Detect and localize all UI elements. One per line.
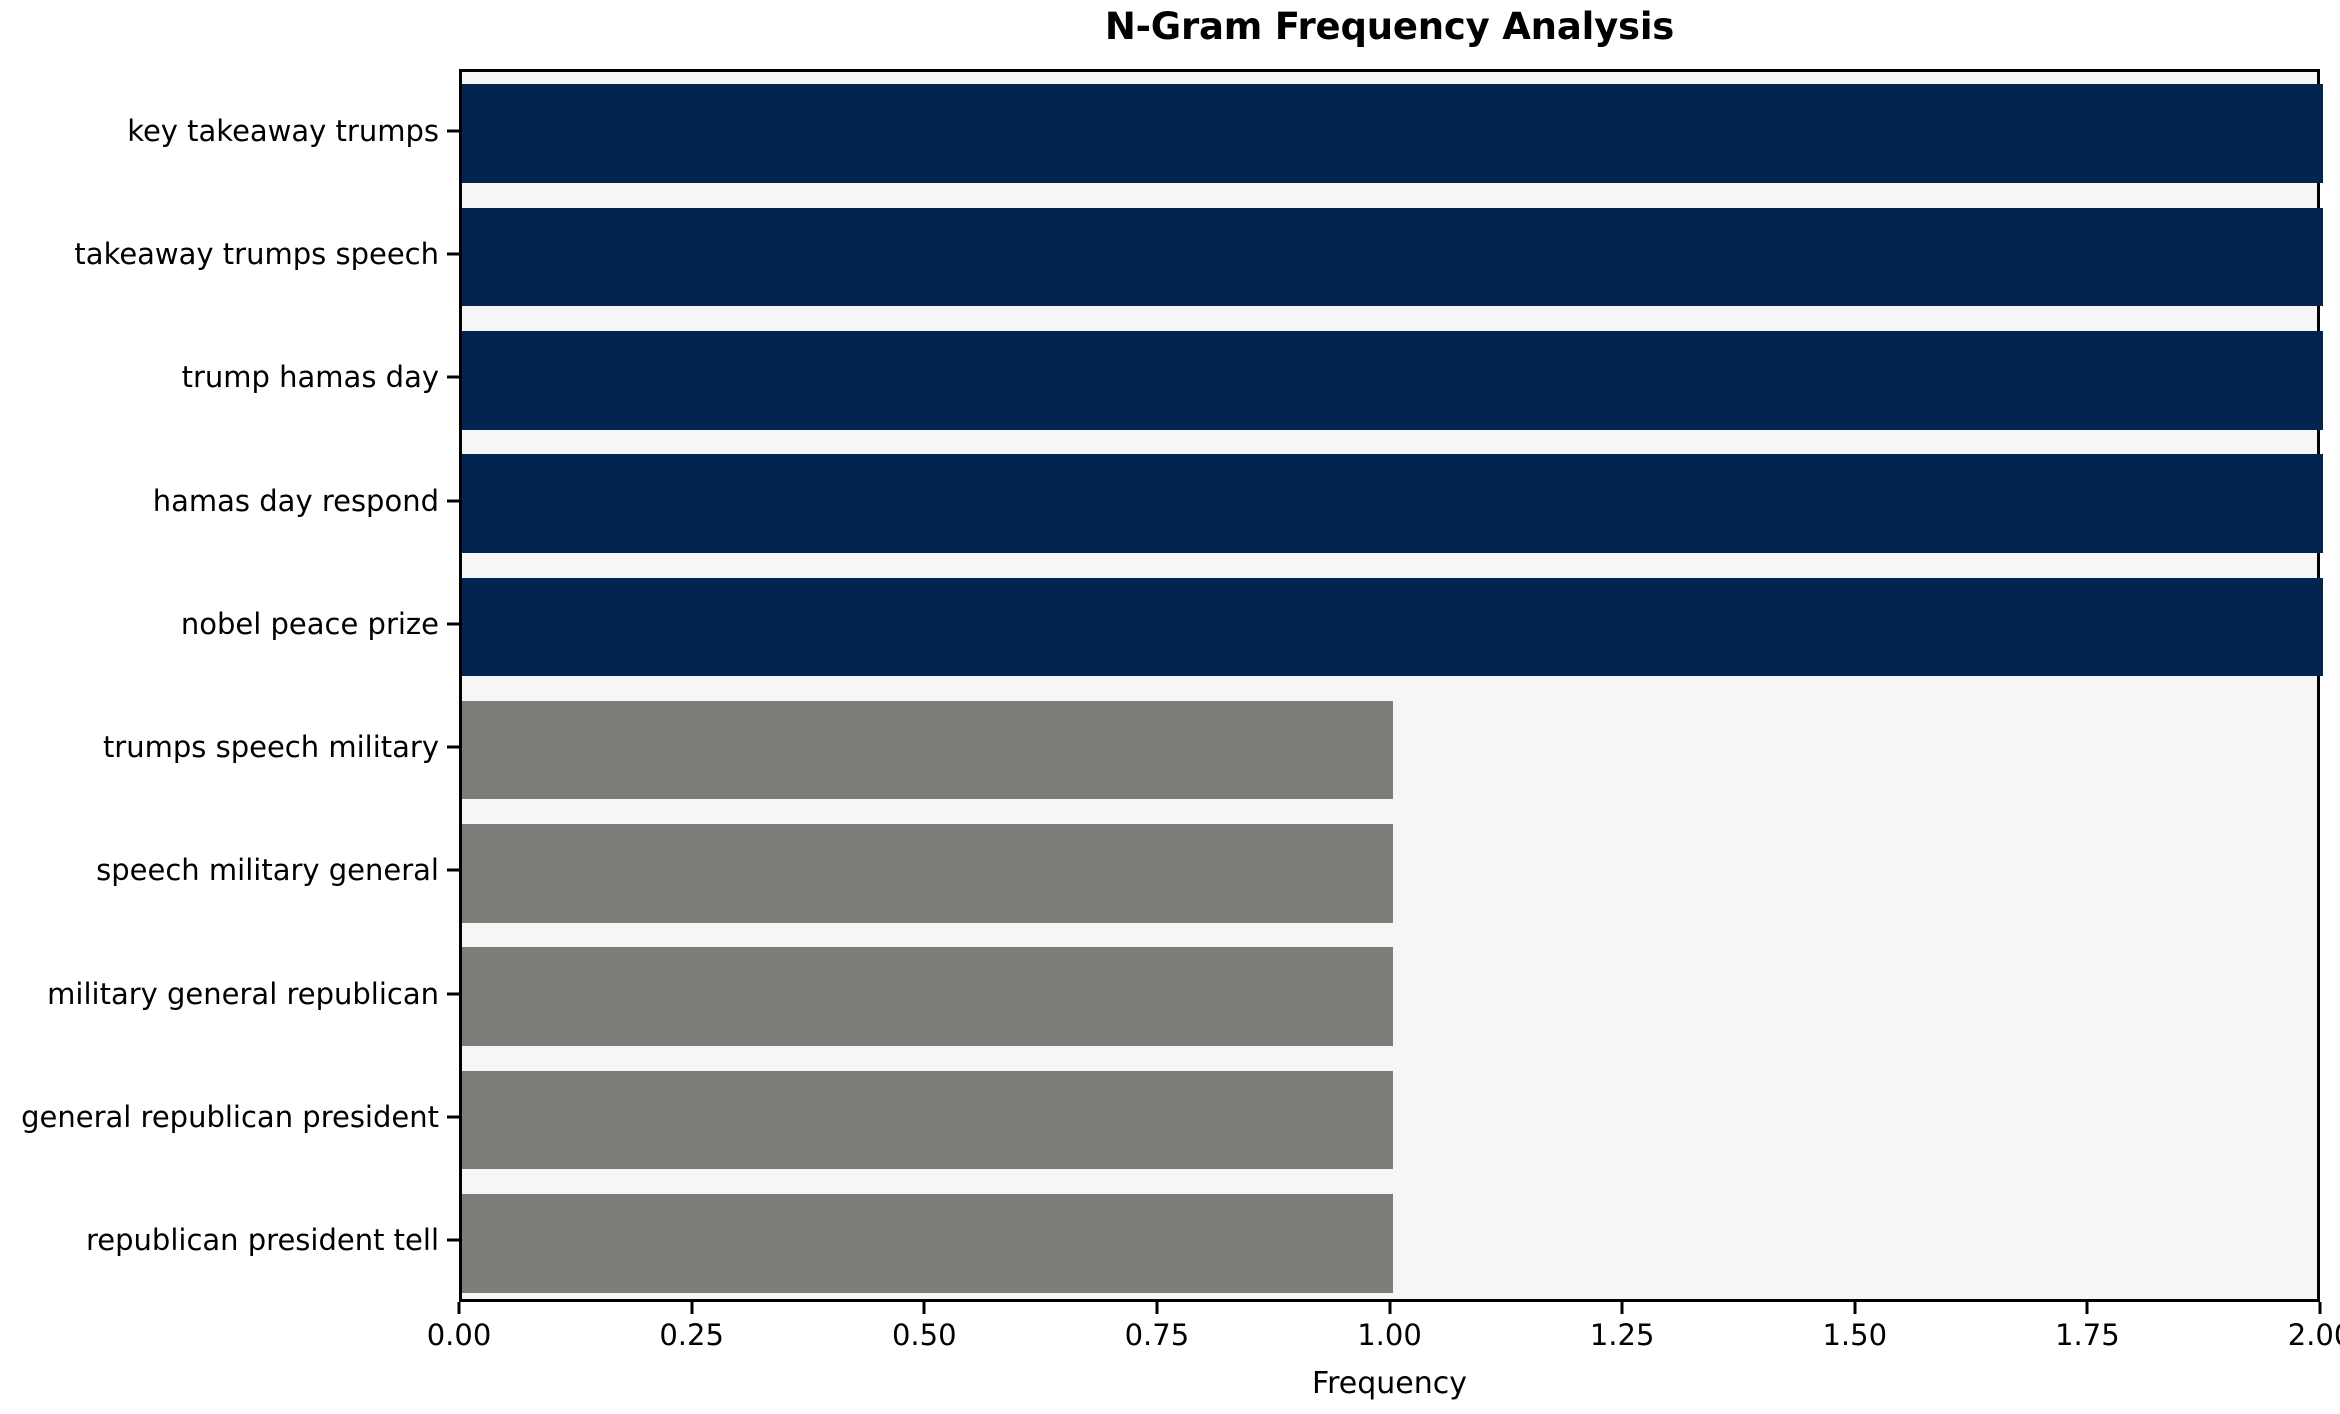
x-tick-mark xyxy=(1621,1302,1624,1314)
chart-figure: N-Gram Frequency Analysis key takeaway t… xyxy=(0,0,2340,1414)
x-tick-label: 0.00 xyxy=(427,1318,492,1352)
y-tick-mark xyxy=(447,1239,459,1242)
y-tick-label: speech military general xyxy=(96,853,439,887)
x-tick-label: 1.25 xyxy=(1590,1318,1655,1352)
chart-title: N-Gram Frequency Analysis xyxy=(459,5,2320,48)
x-tick-label: 0.25 xyxy=(659,1318,724,1352)
bar xyxy=(462,454,2323,553)
bar xyxy=(462,84,2323,183)
x-tick-mark xyxy=(1853,1302,1856,1314)
bar xyxy=(462,824,1393,923)
plot-area xyxy=(459,69,2320,1302)
y-tick-label: military general republican xyxy=(47,977,439,1011)
y-tick-label: trump hamas day xyxy=(182,360,439,394)
y-tick-mark xyxy=(447,129,459,132)
x-tick-label: 1.00 xyxy=(1357,1318,1422,1352)
bar xyxy=(462,331,2323,430)
x-axis: Frequency 0.000.250.500.751.001.251.501.… xyxy=(459,1302,2320,1414)
x-tick-label: 1.75 xyxy=(2055,1318,2120,1352)
bar xyxy=(462,1071,1393,1170)
y-tick-mark xyxy=(447,992,459,995)
y-tick-mark xyxy=(447,1116,459,1119)
y-tick-label: nobel peace prize xyxy=(181,607,439,641)
bar xyxy=(462,1194,1393,1293)
bar xyxy=(462,578,2323,677)
y-tick-label: trumps speech military xyxy=(103,730,439,764)
y-tick-mark xyxy=(447,746,459,749)
y-tick-mark xyxy=(447,622,459,625)
x-tick-label: 1.50 xyxy=(1822,1318,1887,1352)
bar xyxy=(462,947,1393,1046)
x-tick-mark xyxy=(1155,1302,1158,1314)
x-tick-mark xyxy=(2086,1302,2089,1314)
bar xyxy=(462,701,1393,800)
x-axis-label: Frequency xyxy=(459,1366,2320,1401)
x-tick-mark xyxy=(923,1302,926,1314)
y-tick-mark xyxy=(447,869,459,872)
bar xyxy=(462,208,2323,307)
x-tick-mark xyxy=(1388,1302,1391,1314)
y-tick-mark xyxy=(447,252,459,255)
y-axis-tick-labels: key takeaway trumpstakeaway trumps speec… xyxy=(0,69,459,1302)
x-tick-label: 2.00 xyxy=(2288,1318,2340,1352)
x-tick-mark xyxy=(458,1302,461,1314)
y-tick-mark xyxy=(447,376,459,379)
x-tick-mark xyxy=(2319,1302,2322,1314)
x-tick-label: 0.75 xyxy=(1125,1318,1190,1352)
y-tick-label: key takeaway trumps xyxy=(127,114,439,148)
x-tick-mark xyxy=(690,1302,693,1314)
y-tick-label: general republican president xyxy=(21,1100,439,1134)
bars-layer xyxy=(462,72,2317,1299)
y-tick-mark xyxy=(447,499,459,502)
y-tick-label: takeaway trumps speech xyxy=(74,237,439,271)
y-tick-label: republican president tell xyxy=(86,1223,439,1257)
x-tick-label: 0.50 xyxy=(892,1318,957,1352)
y-tick-label: hamas day respond xyxy=(153,484,439,518)
